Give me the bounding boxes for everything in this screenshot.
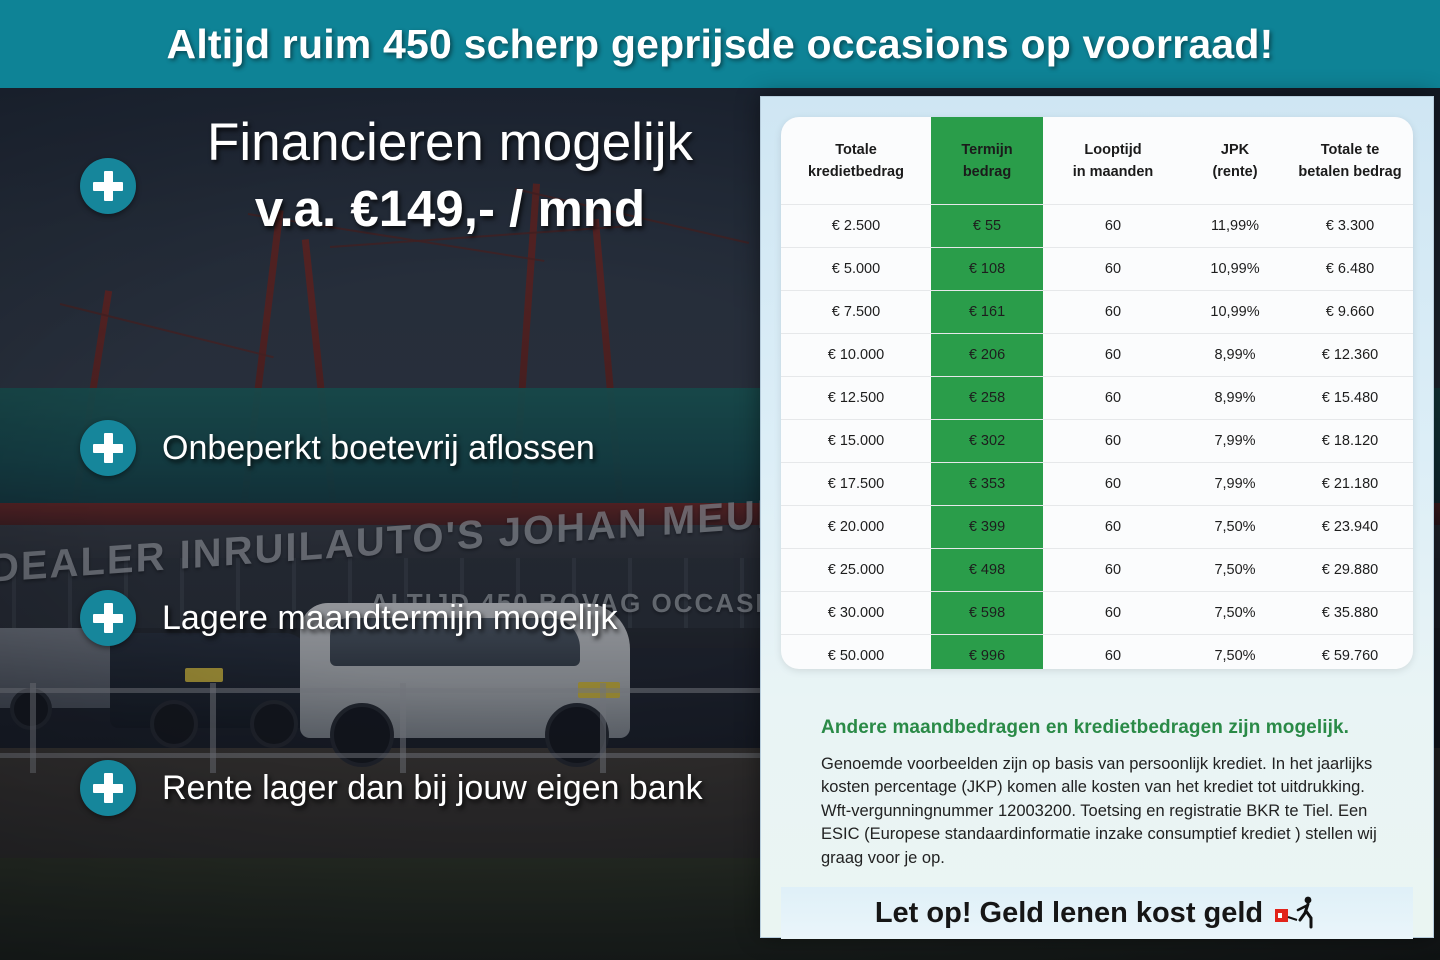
table-header-row: Totale kredietbedrag Termijn bedrag Loop… [781, 117, 1413, 204]
bullet-label-2: Lagere maandtermijn mogelijk [162, 599, 617, 638]
cell-jkp: 7,99% [1183, 462, 1287, 505]
cell-termijn: € 258 [931, 376, 1043, 419]
cell-totaal: € 18.120 [1287, 419, 1413, 462]
col-header-jkp-line2: (rente) [1187, 161, 1283, 183]
col-header-termijn: Termijn bedrag [931, 117, 1043, 204]
cell-termijn: € 399 [931, 505, 1043, 548]
warning-bar: Let op! Geld lenen kost geld [781, 887, 1413, 939]
plus-circle-icon [80, 420, 136, 476]
cell-krediet: € 5.000 [781, 247, 931, 290]
cell-termijn: € 598 [931, 591, 1043, 634]
cell-krediet: € 10.000 [781, 333, 931, 376]
plus-circle-icon [80, 158, 136, 214]
cell-jkp: 7,99% [1183, 419, 1287, 462]
table-row: € 12.500 € 258 60 8,99% € 15.480 [781, 376, 1413, 419]
plus-circle-icon [80, 760, 136, 816]
cell-looptijd: 60 [1043, 548, 1183, 591]
cell-jkp: 11,99% [1183, 204, 1287, 247]
rates-table-body: € 2.500 € 55 60 11,99% € 3.300 € 5.000 €… [781, 204, 1413, 669]
cell-krediet: € 2.500 [781, 204, 931, 247]
cell-looptijd: 60 [1043, 290, 1183, 333]
col-header-looptijd-line1: Looptijd [1047, 139, 1179, 161]
note-title: Andere maandbedragen en kredietbedragen … [821, 717, 1381, 739]
banner-text: Altijd ruim 450 scherp geprijsde occasio… [167, 21, 1274, 68]
cell-termijn: € 302 [931, 419, 1043, 462]
cell-looptijd: 60 [1043, 634, 1183, 669]
headline: Financieren mogelijk v.a. €149,- / mnd [150, 113, 750, 240]
rates-table-card: Totale kredietbedrag Termijn bedrag Loop… [781, 117, 1413, 669]
col-header-jkp: JPK (rente) [1183, 117, 1287, 204]
cell-totaal: € 15.480 [1287, 376, 1413, 419]
cell-termijn: € 996 [931, 634, 1043, 669]
cell-jkp: 8,99% [1183, 376, 1287, 419]
cell-krediet: € 50.000 [781, 634, 931, 669]
table-row: € 15.000 € 302 60 7,99% € 18.120 [781, 419, 1413, 462]
cell-totaal: € 59.760 [1287, 634, 1413, 669]
cell-totaal: € 12.360 [1287, 333, 1413, 376]
cell-krediet: € 17.500 [781, 462, 931, 505]
cell-totaal: € 6.480 [1287, 247, 1413, 290]
cell-looptijd: 60 [1043, 419, 1183, 462]
advertisement-banner: DEALER INRUILAUTO'S JOHAN MEURE ALTIJD 4… [0, 0, 1440, 960]
col-header-termijn-line2: bedrag [935, 161, 1039, 183]
bullet-item-3: Rente lager dan bij jouw eigen bank [80, 760, 703, 816]
bullet-item-1: Onbeperkt boetevrij aflossen [80, 420, 595, 476]
top-banner: Altijd ruim 450 scherp geprijsde occasio… [0, 0, 1440, 88]
cell-totaal: € 35.880 [1287, 591, 1413, 634]
headline-line2: v.a. €149,- / mnd [150, 178, 750, 239]
disclaimer-note: Andere maandbedragen en kredietbedragen … [821, 717, 1381, 870]
cell-looptijd: 60 [1043, 247, 1183, 290]
cell-krediet: € 25.000 [781, 548, 931, 591]
table-row: € 50.000 € 996 60 7,50% € 59.760 [781, 634, 1413, 669]
cell-termijn: € 55 [931, 204, 1043, 247]
col-header-krediet: Totale kredietbedrag [781, 117, 931, 204]
cell-termijn: € 498 [931, 548, 1043, 591]
cell-jkp: 7,50% [1183, 591, 1287, 634]
headline-line1: Financieren mogelijk [150, 113, 750, 172]
table-row: € 7.500 € 161 60 10,99% € 9.660 [781, 290, 1413, 333]
table-row: € 5.000 € 108 60 10,99% € 6.480 [781, 247, 1413, 290]
col-header-krediet-line1: Totale [785, 139, 927, 161]
rates-table: Totale kredietbedrag Termijn bedrag Loop… [781, 117, 1413, 669]
col-header-jkp-line1: JPK [1187, 139, 1283, 161]
col-header-looptijd: Looptijd in maanden [1043, 117, 1183, 204]
cell-jkp: 8,99% [1183, 333, 1287, 376]
warning-text: Let op! Geld lenen kost geld [875, 897, 1263, 930]
cell-looptijd: 60 [1043, 204, 1183, 247]
bullet-label-1: Onbeperkt boetevrij aflossen [162, 429, 595, 468]
cell-jkp: 7,50% [1183, 505, 1287, 548]
cell-termijn: € 108 [931, 247, 1043, 290]
cell-jkp: 7,50% [1183, 634, 1287, 669]
note-body: Genoemde voorbeelden zijn op basis van p… [821, 753, 1381, 870]
left-content: Financieren mogelijk v.a. €149,- / mnd O… [0, 88, 760, 960]
geld-lenen-kost-geld-logo [1275, 896, 1319, 930]
cell-termijn: € 206 [931, 333, 1043, 376]
table-row: € 25.000 € 498 60 7,50% € 29.880 [781, 548, 1413, 591]
table-row: € 30.000 € 598 60 7,50% € 35.880 [781, 591, 1413, 634]
col-header-totaal: Totale te betalen bedrag [1287, 117, 1413, 204]
cell-jkp: 7,50% [1183, 548, 1287, 591]
col-header-totaal-line1: Totale te [1291, 139, 1409, 161]
cell-totaal: € 21.180 [1287, 462, 1413, 505]
col-header-krediet-line2: kredietbedrag [785, 161, 927, 183]
table-row: € 10.000 € 206 60 8,99% € 12.360 [781, 333, 1413, 376]
col-header-totaal-line2: betalen bedrag [1291, 161, 1409, 183]
cell-krediet: € 20.000 [781, 505, 931, 548]
bullet-item-2: Lagere maandtermijn mogelijk [80, 590, 617, 646]
cell-looptijd: 60 [1043, 376, 1183, 419]
col-header-looptijd-line2: in maanden [1047, 161, 1179, 183]
plus-circle-icon [80, 590, 136, 646]
cell-totaal: € 29.880 [1287, 548, 1413, 591]
cell-looptijd: 60 [1043, 505, 1183, 548]
table-row: € 20.000 € 399 60 7,50% € 23.940 [781, 505, 1413, 548]
table-row: € 2.500 € 55 60 11,99% € 3.300 [781, 204, 1413, 247]
cell-looptijd: 60 [1043, 462, 1183, 505]
cell-krediet: € 12.500 [781, 376, 931, 419]
cell-totaal: € 3.300 [1287, 204, 1413, 247]
bullet-label-3: Rente lager dan bij jouw eigen bank [162, 769, 703, 808]
financing-panel: Totale kredietbedrag Termijn bedrag Loop… [760, 96, 1434, 938]
cell-looptijd: 60 [1043, 333, 1183, 376]
cell-krediet: € 7.500 [781, 290, 931, 333]
cell-totaal: € 9.660 [1287, 290, 1413, 333]
cell-jkp: 10,99% [1183, 290, 1287, 333]
cell-totaal: € 23.940 [1287, 505, 1413, 548]
cell-termijn: € 161 [931, 290, 1043, 333]
cell-krediet: € 30.000 [781, 591, 931, 634]
cell-looptijd: 60 [1043, 591, 1183, 634]
cell-krediet: € 15.000 [781, 419, 931, 462]
table-row: € 17.500 € 353 60 7,99% € 21.180 [781, 462, 1413, 505]
col-header-termijn-line1: Termijn [935, 139, 1039, 161]
cell-termijn: € 353 [931, 462, 1043, 505]
cell-jkp: 10,99% [1183, 247, 1287, 290]
